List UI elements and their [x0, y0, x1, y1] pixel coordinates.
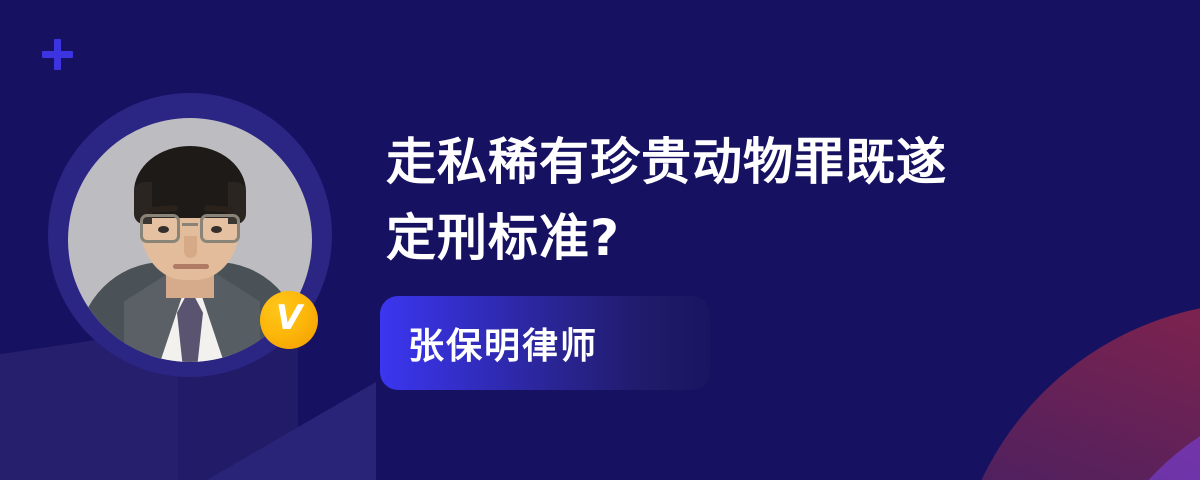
page-title: 走私稀有珍贵动物罪既遂 定刑标准? — [386, 124, 1086, 276]
verified-badge-icon: V — [260, 291, 318, 349]
verified-badge-glyph: V — [276, 301, 302, 335]
avatar[interactable]: V — [48, 93, 332, 377]
content-block: 走私稀有珍贵动物罪既遂 定刑标准? — [386, 124, 1086, 276]
portrait-mouth — [173, 264, 209, 269]
lawyer-name-label: 张保明律师 — [380, 317, 598, 369]
glasses-bridge — [182, 223, 198, 226]
portrait-nose — [184, 236, 197, 258]
glasses-lens-right — [200, 214, 240, 243]
decor-circle-crimson — [952, 302, 1200, 480]
lawyer-qa-banner: V 走私稀有珍贵动物罪既遂 定刑标准? 张保明律师 — [0, 0, 1200, 480]
plus-icon — [42, 39, 73, 70]
lawyer-name-badge[interactable]: 张保明律师 — [380, 296, 710, 390]
glasses-lens-left — [140, 214, 180, 243]
